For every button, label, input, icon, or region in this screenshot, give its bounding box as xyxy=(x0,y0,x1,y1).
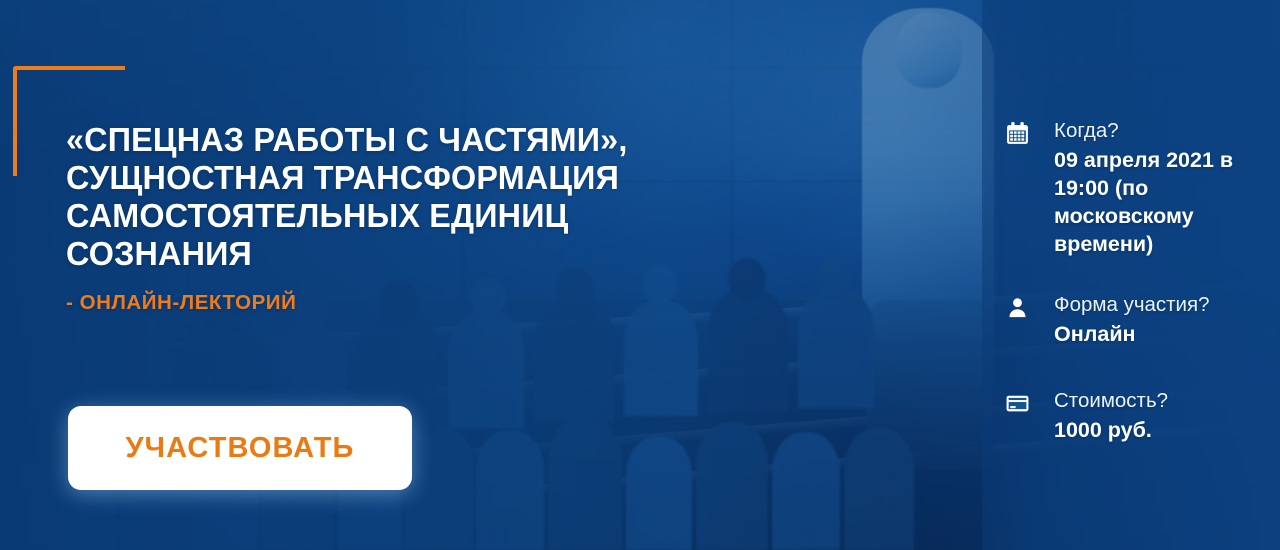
page-title-line-4: СОЗНАНИЯ xyxy=(66,236,742,274)
info-item-when: Когда? 09 апреля 2021 в 19:00 (по москов… xyxy=(1004,118,1280,258)
credit-card-icon xyxy=(1004,390,1030,416)
info-label-price: Стоимость? xyxy=(1054,388,1280,414)
participate-button[interactable]: УЧАСТВОВАТЬ xyxy=(68,406,412,490)
headline-block: «СПЕЦНАЗ РАБОТЫ С ЧАСТЯМИ», СУЩНОСТНАЯ Т… xyxy=(66,122,766,315)
event-info-list: Когда? 09 апреля 2021 в 19:00 (по москов… xyxy=(982,118,1280,444)
info-value-when: 09 апреля 2021 в 19:00 (по московскому в… xyxy=(1054,146,1280,258)
page-title: «СПЕЦНАЗ РАБОТЫ С ЧАСТЯМИ», СУЩНОСТНАЯ Т… xyxy=(66,122,742,274)
info-item-price: Стоимость? 1000 руб. xyxy=(1004,388,1280,444)
hero-banner: «СПЕЦНАЗ РАБОТЫ С ЧАСТЯМИ», СУЩНОСТНАЯ Т… xyxy=(0,0,1280,550)
info-value-price: 1000 руб. xyxy=(1054,416,1280,444)
info-label-participation: Форма участия? xyxy=(1054,292,1280,318)
person-icon xyxy=(1004,294,1030,320)
page-subtitle: - ОНЛАЙН-ЛЕКТОРИЙ xyxy=(66,291,766,315)
page-title-line-3: САМОСТОЯТЕЛЬНЫХ ЕДИНИЦ xyxy=(66,198,742,236)
page-title-line-1: «СПЕЦНАЗ РАБОТЫ С ЧАСТЯМИ», xyxy=(66,122,742,160)
page-title-line-2: СУЩНОСТНАЯ ТРАНСФОРМАЦИЯ xyxy=(66,160,742,198)
info-value-participation: Онлайн xyxy=(1054,320,1280,348)
info-item-participation: Форма участия? Онлайн xyxy=(1004,292,1280,348)
info-label-when: Когда? xyxy=(1054,118,1280,144)
calendar-icon xyxy=(1004,120,1030,146)
